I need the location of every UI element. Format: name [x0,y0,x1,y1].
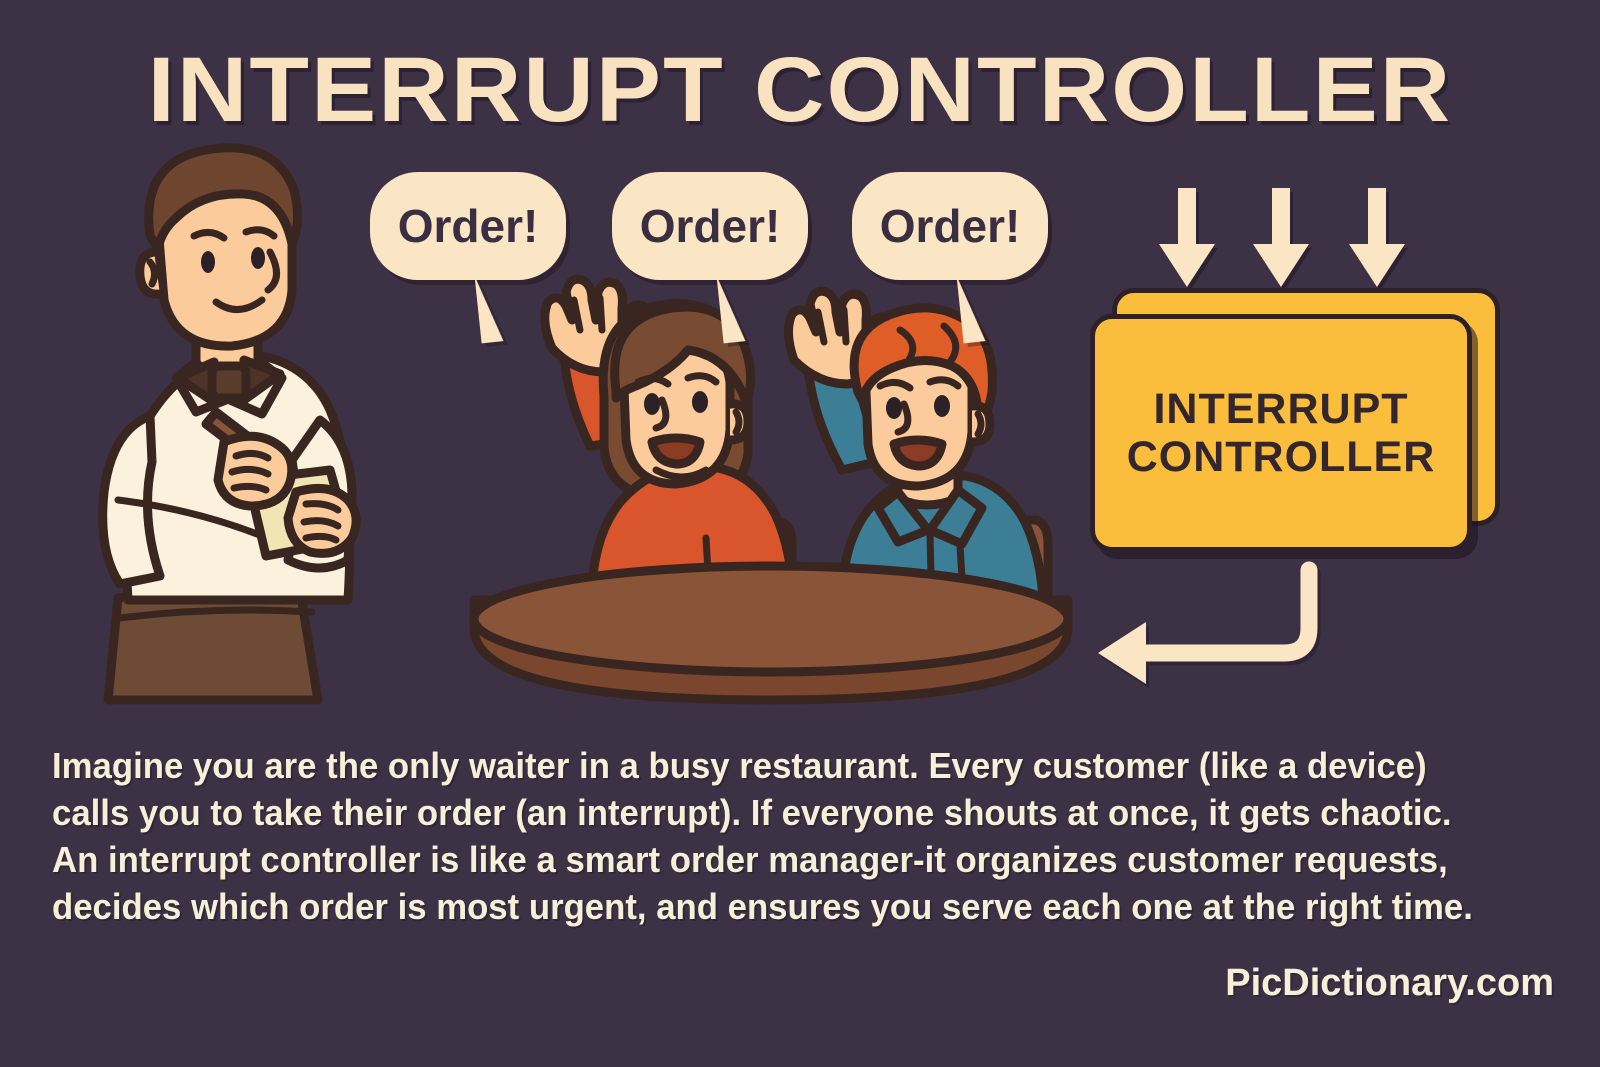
arrow-down-icon [1158,188,1216,288]
arrow-down-icon [1252,188,1310,288]
controller-box-line2: CONTROLLER [1127,433,1436,481]
watermark: PicDictionary.com [1225,962,1554,1005]
table [474,566,1068,700]
speech-bubble-text: Order! [612,172,808,280]
arrow-down-icon [1348,188,1406,288]
description-paragraph: Imagine you are the only waiter in a bus… [52,742,1500,930]
waiter-figure [103,148,356,700]
interrupt-controller-box: INTERRUPT CONTROLLER [1090,288,1490,548]
speech-bubble-order-3: Order! [852,172,1048,280]
speech-bubble-order-1: Order! [370,172,566,280]
arrow-left-output-icon [1060,520,1460,700]
controller-box-line1: INTERRUPT [1153,385,1408,433]
controller-box-front-layer: INTERRUPT CONTROLLER [1090,314,1472,552]
speech-bubble-text: Order! [852,172,1048,280]
speech-bubble-order-2: Order! [612,172,808,280]
poster-canvas: INTERRUPT CONTROLLER .ol{stroke:#3A2620;… [0,0,1600,1067]
speech-bubble-text: Order! [370,172,566,280]
